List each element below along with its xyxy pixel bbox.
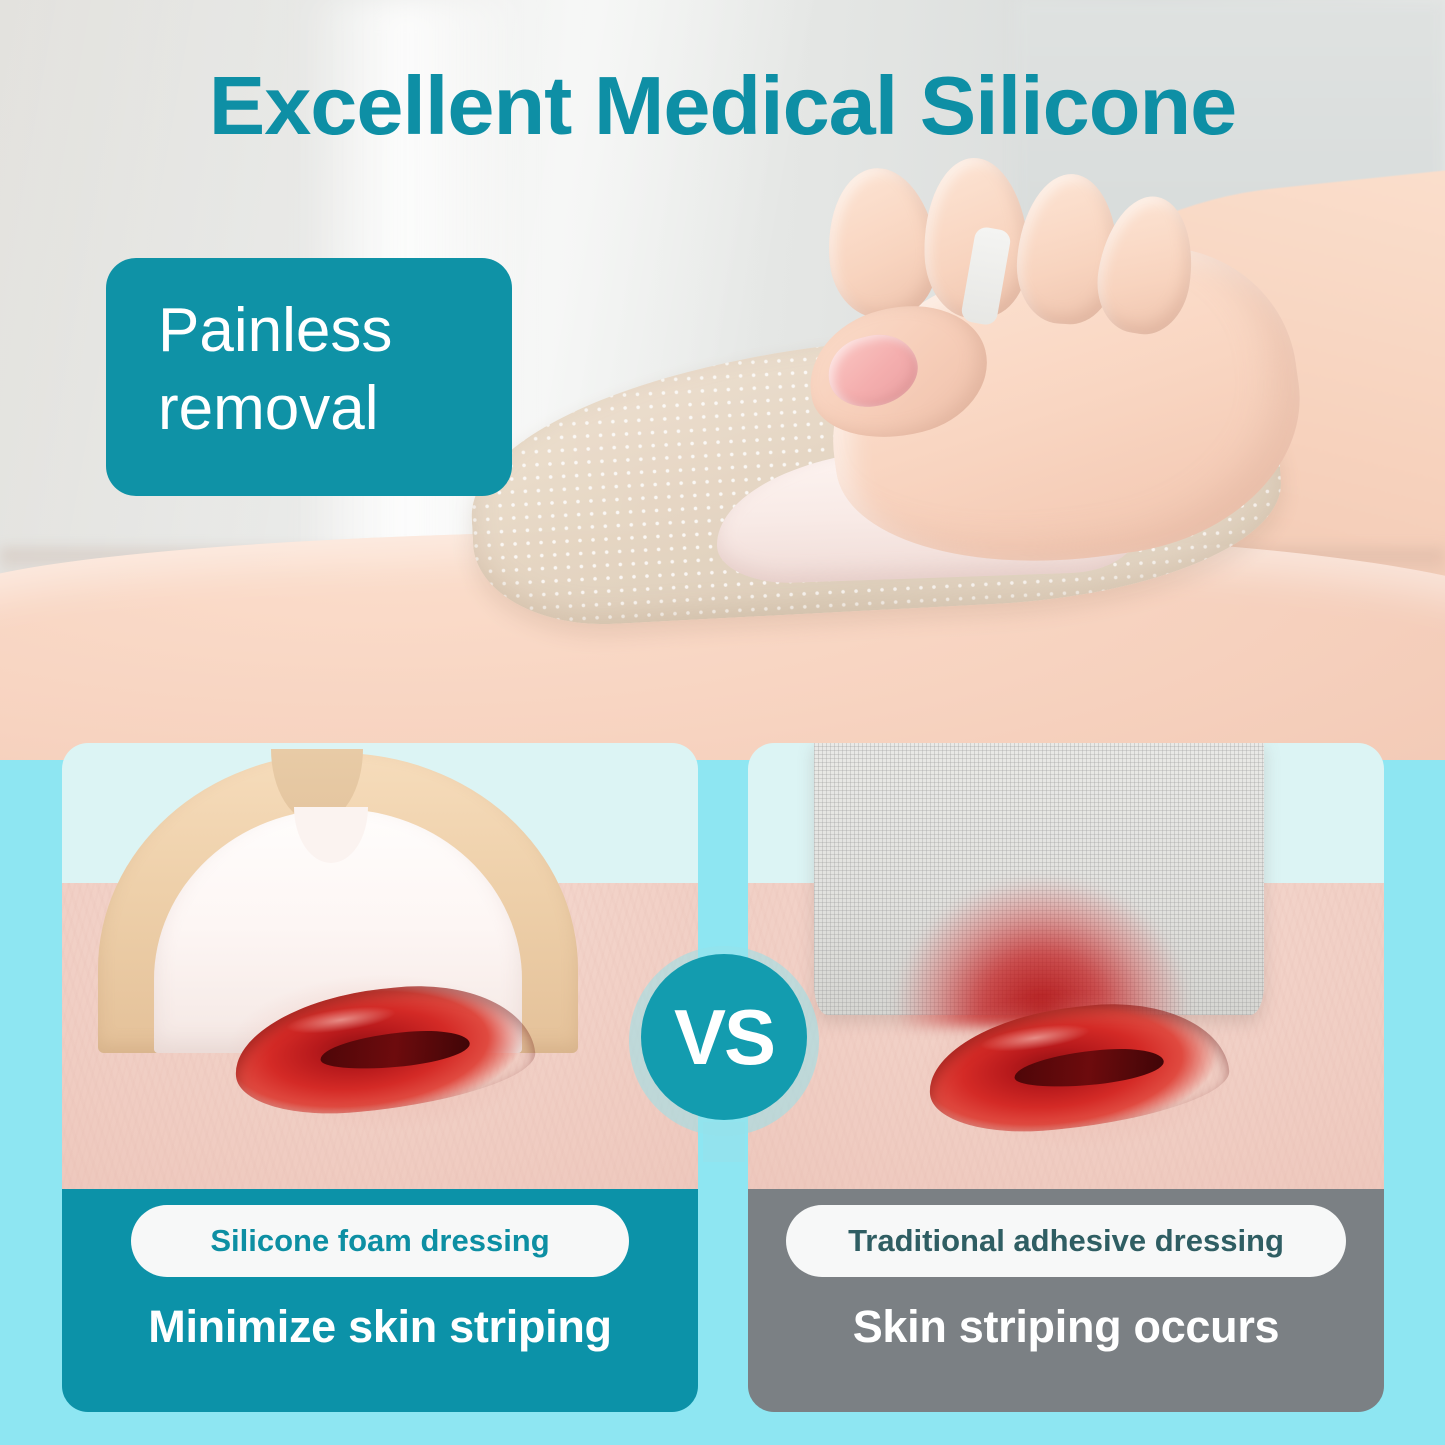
pill-label: Traditional adhesive dressing	[848, 1223, 1284, 1259]
vs-label: VS	[674, 998, 774, 1076]
wound-left	[234, 989, 534, 1109]
card-photo-traditional-adhesive	[748, 743, 1384, 1189]
pill-label: Silicone foam dressing	[210, 1223, 549, 1259]
badge-line-1: Painless	[158, 292, 512, 370]
card-footer-silicone-foam: Silicone foam dressing Minimize skin str…	[62, 1189, 698, 1412]
card-footer-traditional-adhesive: Traditional adhesive dressing Skin strip…	[748, 1189, 1384, 1412]
wound-right	[928, 1007, 1228, 1127]
card-caption-traditional: Skin striping occurs	[748, 1301, 1384, 1353]
comparison-card-traditional-adhesive: Traditional adhesive dressing Skin strip…	[748, 743, 1384, 1412]
product-infographic: Excellent Medical Silicone Painless remo…	[0, 0, 1445, 1445]
dressing-type-pill-traditional: Traditional adhesive dressing	[786, 1205, 1346, 1277]
card-caption-silicone: Minimize skin striping	[62, 1301, 698, 1353]
dressing-type-pill-silicone: Silicone foam dressing	[131, 1205, 629, 1277]
painless-removal-badge: Painless removal	[106, 258, 512, 496]
vs-circle: VS	[641, 954, 807, 1120]
comparison-card-silicone-foam: Silicone foam dressing Minimize skin str…	[62, 743, 698, 1412]
vs-divider-badge: VS	[629, 946, 819, 1136]
page-title: Excellent Medical Silicone	[0, 62, 1445, 149]
badge-line-2: removal	[158, 370, 512, 448]
card-photo-silicone-foam	[62, 743, 698, 1189]
hand-peeling-dressing	[800, 140, 1320, 560]
